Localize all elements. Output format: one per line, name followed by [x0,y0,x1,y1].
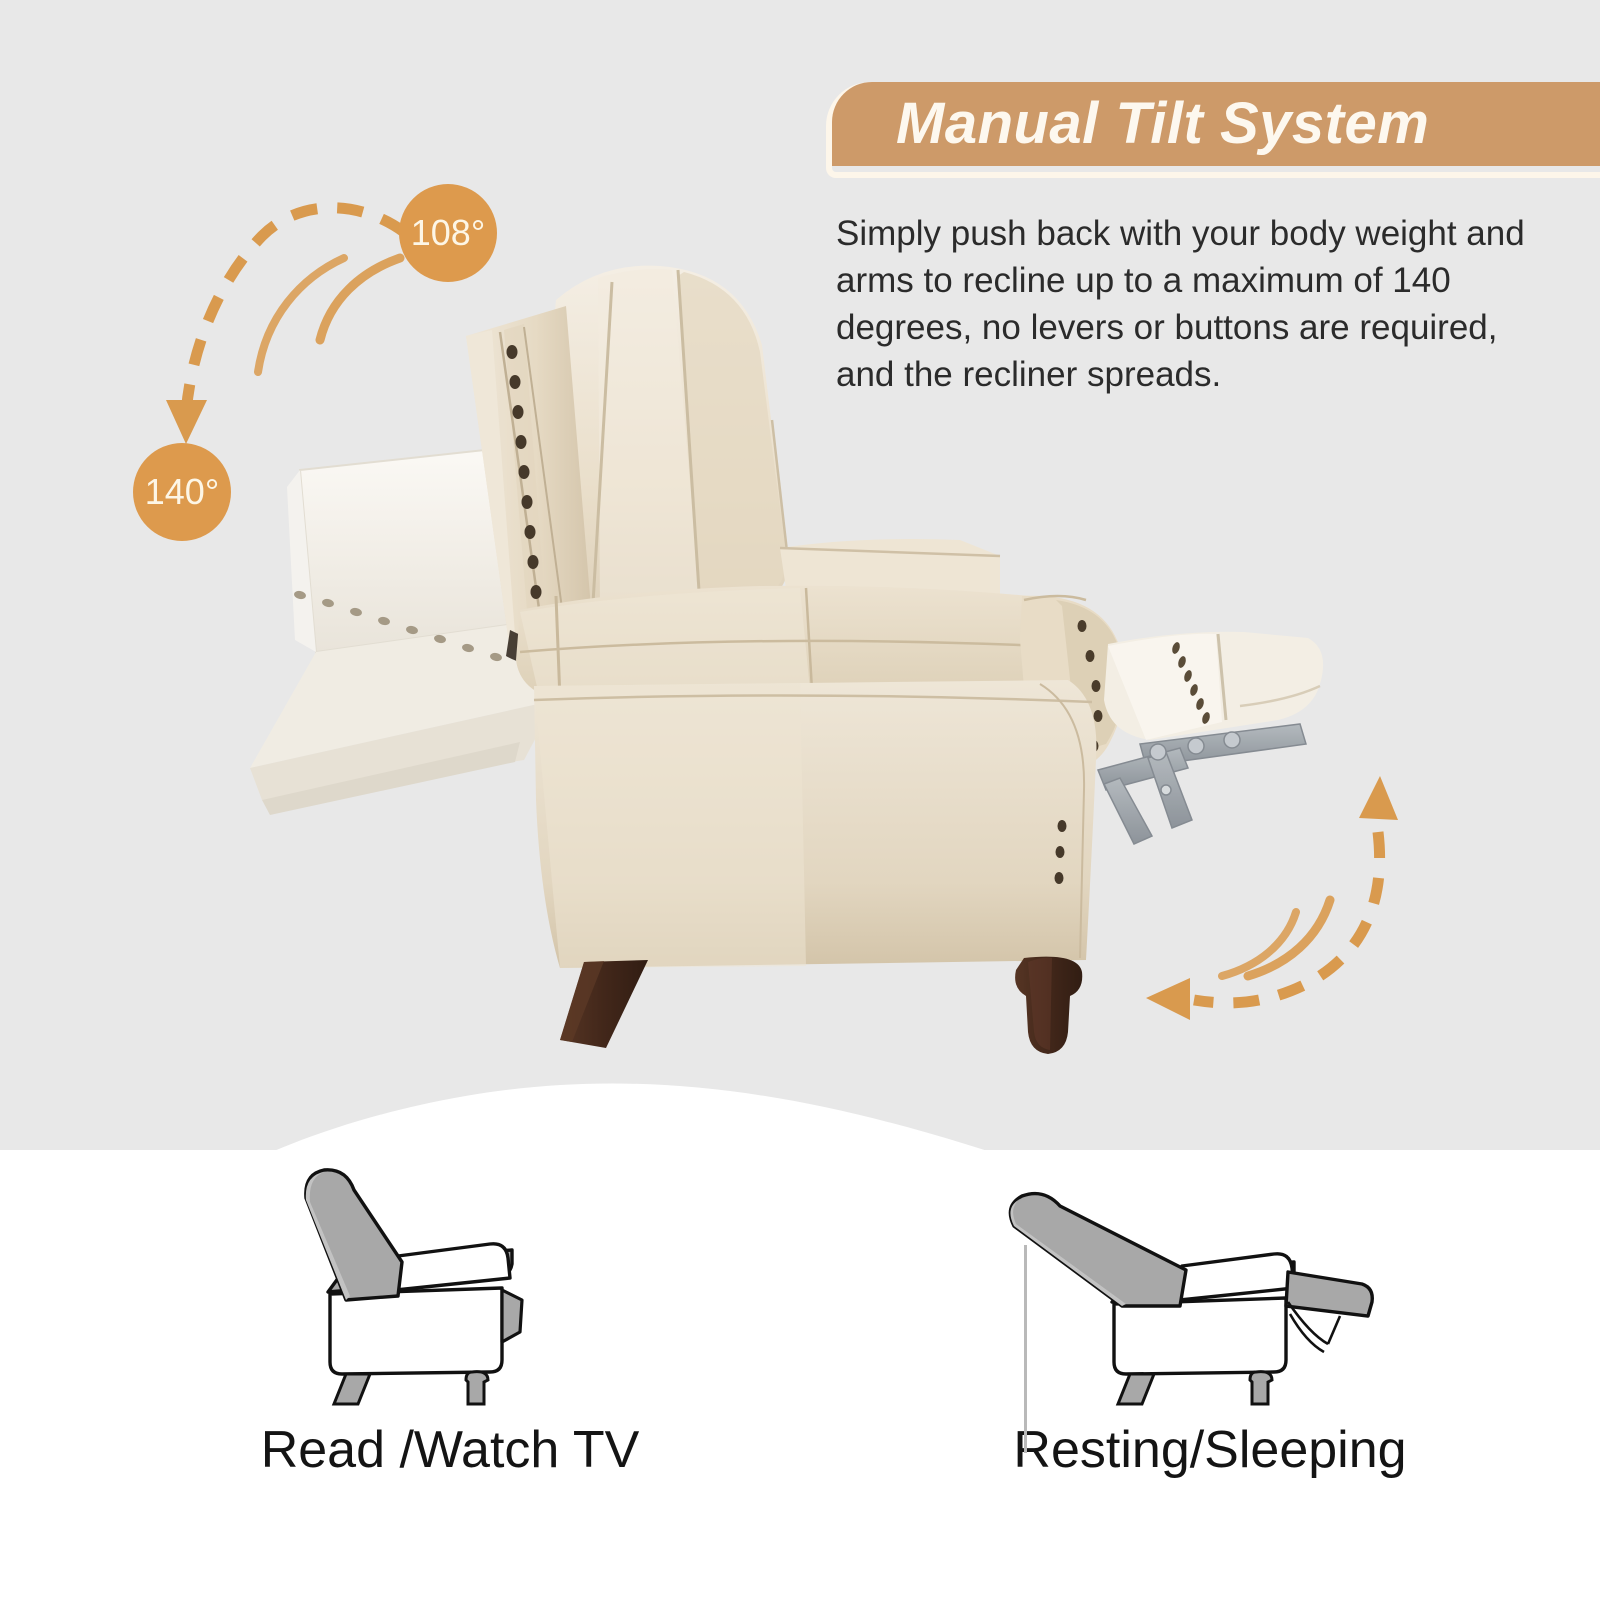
max-recline-angle-label: 140° [145,471,219,513]
section-divider [1024,1245,1027,1453]
upright-angle-badge: 108° [399,184,497,282]
title-banner: Manual Tilt System [826,82,1600,178]
mode-read-watch-tv: Read /Watch TV [100,1160,800,1560]
page-title: Manual Tilt System [896,78,1600,170]
mode-resting-sleeping-label: Resting/Sleeping [860,1420,1560,1480]
reclined-chair-icon [860,1160,1560,1410]
mode-resting-sleeping: Resting/Sleeping [860,1160,1560,1560]
upright-chair-icon [100,1160,800,1410]
background-shape [0,0,1600,1260]
max-recline-angle-badge: 140° [133,443,231,541]
upright-angle-label: 108° [411,212,485,254]
description-text: Simply push back with your body weight a… [836,210,1556,398]
mode-read-watch-tv-label: Read /Watch TV [100,1420,800,1480]
infographic-page: Manual Tilt System Simply push back with… [0,0,1600,1600]
